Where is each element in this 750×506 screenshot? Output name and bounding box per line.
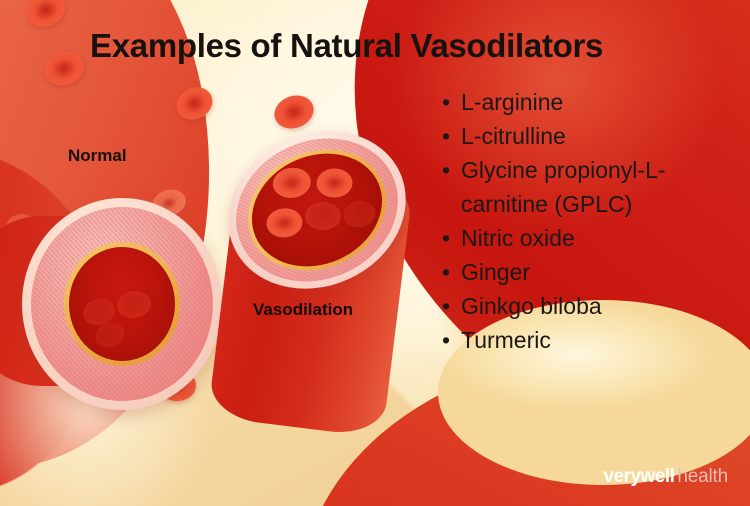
red-blood-cell-icon — [341, 199, 377, 230]
list-item: Glycine propionyl-L-carnitine (GPLC) — [440, 153, 740, 221]
vasodilation-vessel-diagram — [212, 128, 426, 428]
red-blood-cell-icon — [265, 207, 304, 240]
verywell-health-logo: verywell health — [603, 466, 728, 488]
red-blood-cell-icon — [271, 165, 313, 200]
red-blood-cell-icon — [305, 202, 341, 230]
red-blood-cell-icon — [115, 289, 152, 320]
normal-vessel-lumen — [69, 247, 175, 361]
normal-vessel-diagram — [22, 198, 222, 410]
list-item: L-citrulline — [440, 119, 740, 153]
list-item: Nitric oxide — [440, 221, 740, 255]
list-item: Ginkgo biloba — [440, 289, 740, 323]
logo-primary-text: verywell — [603, 466, 674, 488]
list-item: L-arginine — [440, 85, 740, 119]
logo-secondary-text: health — [677, 466, 728, 488]
vasodilator-list: L-arginine L-citrulline Glycine propiony… — [440, 85, 740, 357]
page-title: Examples of Natural Vasodilators — [90, 27, 603, 65]
label-normal: Normal — [68, 146, 127, 166]
infographic-canvas: Examples of Natural Vasodilators Normal … — [0, 0, 750, 506]
red-blood-cell-icon — [316, 168, 353, 198]
list-item: Ginger — [440, 255, 740, 289]
label-vasodilation: Vasodilation — [253, 300, 353, 320]
list-item: Turmeric — [440, 323, 740, 357]
